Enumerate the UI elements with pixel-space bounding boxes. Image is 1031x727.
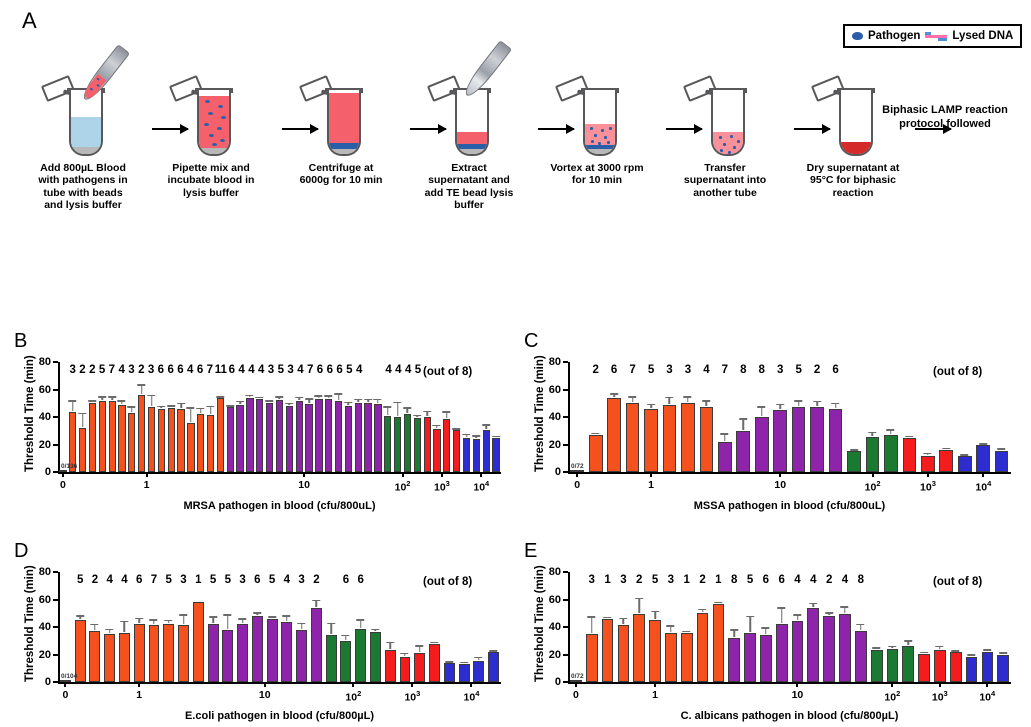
error-bar [706, 400, 708, 406]
replicate-count [486, 574, 501, 586]
error-bar [476, 435, 478, 438]
bar-slot [294, 362, 304, 472]
plot-area-d: 02040608001101021031040/104 [58, 572, 501, 682]
bar-slot [863, 362, 881, 472]
workflow-step-3: Centrifuge at 6000g for 10 min [293, 48, 389, 187]
bar [847, 451, 861, 472]
replicate-count: 5 [220, 574, 235, 586]
bar [89, 631, 100, 682]
error-bar [289, 403, 291, 405]
error-bar [249, 395, 251, 398]
bar [128, 413, 135, 472]
error-bar [109, 629, 111, 633]
error-bar [220, 396, 222, 397]
replicate-count: 5 [413, 364, 423, 376]
replicate-count: 6 [227, 364, 237, 376]
bar [728, 638, 740, 682]
bar-slot [132, 572, 147, 682]
bar-slot [393, 362, 403, 472]
replicate-count: 6 [325, 364, 335, 376]
error-bar [397, 402, 399, 416]
error-bar [298, 397, 300, 400]
bar [345, 406, 352, 472]
bar [807, 608, 819, 682]
bar [384, 416, 391, 472]
workflow-step-5-caption: Vortex at 3000 rpm for 10 min [549, 162, 645, 187]
bar-slot [647, 572, 663, 682]
error-bar [743, 418, 745, 430]
replicate-count: 6 [758, 574, 774, 586]
bar-slot [225, 362, 235, 472]
error-bar [813, 603, 815, 607]
error-bar [242, 618, 244, 622]
error-bar [632, 396, 634, 402]
bar [217, 398, 224, 472]
bar [866, 437, 880, 472]
bar-slot [452, 362, 462, 472]
replicate-count [368, 574, 383, 586]
bar [158, 409, 165, 472]
y-tick-label: 20 [549, 649, 561, 661]
y-tick-label: 60 [549, 384, 561, 396]
bar-slot [117, 362, 127, 472]
bar-slot [679, 362, 697, 472]
error-bar [239, 401, 241, 404]
error-bar [404, 653, 406, 656]
workflow-step-1: Add 800µL Blood with pathogens in tube w… [35, 48, 131, 212]
bar-slot [948, 572, 964, 682]
error-bar [446, 411, 448, 418]
bar-slot [900, 362, 918, 472]
replicate-count: 6 [195, 364, 205, 376]
error-bar [407, 407, 409, 413]
bar-slot [383, 572, 398, 682]
error-bar [131, 406, 133, 412]
supernatant-layer [329, 93, 359, 143]
replicate-count [472, 364, 482, 376]
bar-slot [176, 362, 186, 472]
plot-area-c: 02040608001101021031040/72 [568, 362, 1011, 472]
bar-slot [916, 572, 932, 682]
replicate-count: 4 [117, 364, 127, 376]
tube-body [455, 90, 489, 156]
error-bar [718, 602, 720, 603]
bar-slot [992, 362, 1010, 472]
error-bar [749, 616, 751, 632]
x-tick-label: 102 [884, 689, 900, 704]
bar [921, 456, 935, 472]
x-tick [411, 682, 413, 687]
bar-slot [471, 362, 481, 472]
bar [256, 399, 263, 472]
workflow-step-7-caption: Dry supernatant at 95°C for biphasic rea… [805, 162, 901, 199]
bar [138, 395, 145, 472]
replicate-count: 6 [774, 574, 790, 586]
bar-slot [117, 572, 132, 682]
x-tick-label: 104 [975, 479, 991, 494]
bar-series-d [58, 572, 501, 682]
x-tick [264, 682, 266, 687]
replicate-count: 5 [344, 364, 354, 376]
tube-body [327, 90, 361, 156]
bar-slot [206, 572, 221, 682]
x-axis [568, 682, 1011, 684]
replicate-count: 3 [286, 364, 296, 376]
replicate-count [992, 364, 1010, 376]
y-tick-label: 80 [39, 566, 51, 578]
bar [459, 664, 470, 682]
bar-slot [642, 362, 660, 472]
bar [823, 616, 835, 682]
workflow-step-4-caption: Extract supernatant and add TE bead lysi… [421, 162, 517, 212]
bar [340, 641, 351, 682]
bar-slot [324, 572, 339, 682]
error-bar [816, 401, 818, 407]
bar [976, 445, 990, 472]
error-bar [230, 405, 232, 406]
error-bar [387, 406, 389, 414]
error-bar [456, 428, 458, 429]
plot-area-b: 02040608001101021031040/136 [58, 362, 501, 472]
bar-slot [726, 572, 742, 682]
bar [429, 644, 440, 682]
bar [618, 625, 630, 682]
bar-slot [631, 572, 647, 682]
replicate-count: 8 [734, 364, 752, 376]
x-tick [891, 682, 893, 687]
replicate-count [995, 574, 1011, 586]
error-bar [183, 614, 185, 624]
x-tick [779, 472, 781, 477]
replicate-count: 3 [294, 574, 309, 586]
bar-slot [216, 362, 226, 472]
error-bar [779, 404, 781, 410]
zero-count-annotation: 0/136 [61, 463, 77, 470]
bar-slot [334, 362, 344, 472]
bar [492, 438, 499, 472]
bar-slot [368, 572, 383, 682]
replicate-count: 7 [205, 364, 215, 376]
zero-count-annotation: 0/104 [61, 673, 77, 680]
error-bar [982, 443, 984, 444]
bar-slot [660, 362, 678, 472]
bar-series-e [568, 572, 1011, 682]
bar-slot [695, 572, 711, 682]
bar [335, 401, 342, 473]
replicate-count: 2 [88, 574, 103, 586]
bar [918, 654, 930, 682]
panel-a-workflow: A Pathogen Lysed DNA Add 800µL Blood wit… [0, 0, 1031, 300]
bar-slot [398, 572, 413, 682]
error-bar [939, 646, 941, 649]
zero-count-annotation: 0/72 [571, 673, 584, 680]
panel-letter-c: C [524, 330, 538, 353]
bar [414, 653, 425, 682]
workflow-step-3-caption: Centrifuge at 6000g for 10 min [293, 162, 389, 187]
bar [222, 630, 233, 682]
bar-slot [758, 572, 774, 682]
bar [267, 619, 278, 682]
out-of-label-c: (out of 8) [933, 366, 982, 378]
bar-slot [275, 362, 285, 472]
error-bar [853, 449, 855, 450]
blood-lysis-layer [199, 96, 229, 148]
bar [773, 410, 787, 472]
bar-slot [186, 362, 196, 472]
bar-slot [353, 572, 368, 682]
bar [644, 409, 658, 472]
replicate-count: 4 [697, 364, 715, 376]
y-tick-label: 80 [39, 356, 51, 368]
x-tick-label: 102 [865, 479, 881, 494]
error-bar [687, 396, 689, 402]
error-bar [781, 607, 783, 622]
x-tick-label: 104 [979, 689, 995, 704]
bar [168, 408, 175, 472]
y-tick-label: 20 [39, 439, 51, 451]
replicate-count: 3 [584, 574, 600, 586]
x-tick-label: 0 [60, 479, 66, 491]
error-bar [345, 635, 347, 641]
bar [163, 624, 174, 682]
bar [385, 650, 396, 682]
bar-slot [265, 572, 280, 682]
replicate-count [58, 574, 73, 586]
error-bar [92, 400, 94, 402]
x-tick [303, 472, 305, 477]
bar [473, 661, 484, 682]
bar-slot [697, 362, 715, 472]
error-bar [623, 618, 625, 624]
error-bar [111, 396, 113, 400]
x-tick [64, 682, 66, 687]
error-bar [82, 413, 84, 427]
replicate-count: 1 [679, 574, 695, 586]
replicate-count [900, 364, 918, 376]
error-bar [478, 657, 480, 660]
error-bar [170, 405, 172, 407]
replicate-count [491, 364, 501, 376]
replicate-count: 3 [663, 574, 679, 586]
replicate-count: 8 [853, 574, 869, 586]
bar [839, 614, 851, 682]
replicate-count: 3 [266, 364, 276, 376]
bar [997, 655, 1009, 682]
replicate-count: 4 [185, 364, 195, 376]
error-bar [1001, 448, 1003, 449]
bar [404, 414, 411, 472]
replicate-count: 2 [631, 574, 647, 586]
tube-body [197, 90, 231, 156]
bar-slot [481, 362, 491, 472]
error-bar [797, 614, 799, 620]
error-bar [318, 395, 320, 398]
bar [207, 415, 214, 472]
bar-slot [600, 572, 616, 682]
zero-count-annotation: 0/72 [571, 463, 584, 470]
bar-slot [412, 572, 427, 682]
replicate-count: 2 [821, 574, 837, 586]
bar-slot [995, 572, 1011, 682]
tube-graphic-5 [549, 48, 645, 158]
bar-slot [265, 362, 275, 472]
bar [197, 414, 204, 472]
workflow-step-6-caption: Transfer supernatant into another tube [677, 162, 773, 199]
bar [665, 633, 677, 683]
x-tick-label: 1 [648, 479, 654, 491]
x-tick-label: 0 [574, 479, 580, 491]
replicate-count: 2 [87, 364, 97, 376]
x-tick [441, 472, 443, 477]
tube-graphic-4 [421, 48, 517, 158]
error-bar [892, 646, 894, 648]
x-axis [58, 472, 501, 474]
error-bar [733, 629, 735, 637]
bar-slot [427, 572, 442, 682]
bar-slot [679, 572, 695, 682]
bar [119, 633, 130, 682]
y-tick-label: 40 [39, 621, 51, 633]
bar-slot [771, 362, 789, 472]
replicate-count: 4 [247, 364, 257, 376]
bar [934, 650, 946, 682]
bar [792, 407, 806, 472]
x-tick [654, 682, 656, 687]
x-tick-label: 10 [792, 689, 804, 701]
replicate-count: 5 [789, 364, 807, 376]
bar [325, 399, 332, 472]
tube-graphic-7 [805, 48, 901, 158]
error-bar [761, 406, 763, 416]
bar [681, 403, 695, 472]
error-bar [987, 649, 989, 650]
panel-letter-d: D [14, 540, 28, 563]
replicate-count: 3 [68, 364, 78, 376]
bar [424, 417, 431, 472]
replicate-count: 4 [384, 364, 394, 376]
bar [829, 409, 843, 472]
lysed-dna-layer [585, 124, 615, 145]
panel-letter-a: A [22, 8, 37, 34]
error-bar [419, 645, 421, 652]
bar-slot [339, 572, 354, 682]
x-tick [939, 682, 941, 687]
error-bar [798, 400, 800, 406]
error-bar [257, 612, 259, 615]
bar [246, 398, 253, 472]
bar [713, 604, 725, 682]
error-bar [330, 623, 332, 634]
error-bar [650, 404, 652, 408]
replicate-count: 7 [147, 574, 162, 586]
x-tick [982, 472, 984, 477]
replicate-count: 3 [771, 364, 789, 376]
bar-slot [568, 362, 586, 472]
bar [355, 629, 366, 682]
replicate-count: 7 [107, 364, 117, 376]
replicate-count: 8 [726, 574, 742, 586]
lysis-buffer-layer [71, 117, 101, 147]
error-bar [908, 640, 910, 644]
x-tick [576, 472, 578, 477]
bar-slot [980, 572, 996, 682]
error-bar [923, 652, 925, 653]
error-bar [426, 411, 428, 417]
bar-slot [88, 572, 103, 682]
y-tick-label: 20 [39, 649, 51, 661]
replicate-count: 3 [146, 364, 156, 376]
bar-slot [73, 572, 88, 682]
error-bar [686, 631, 688, 632]
bar-slot [491, 362, 501, 472]
bar [463, 438, 470, 472]
replicate-count: 6 [166, 364, 176, 376]
bar-slot [127, 362, 137, 472]
bar-slot [774, 572, 790, 682]
y-tick-label: 80 [549, 356, 561, 368]
error-bar [436, 425, 438, 428]
bar-slot [68, 362, 78, 472]
bar-slot [314, 362, 324, 472]
bar-slot [845, 362, 863, 472]
replicate-count: 6 [335, 364, 345, 376]
bar-slot [937, 362, 955, 472]
bar-slot [324, 362, 334, 472]
error-bar [301, 623, 303, 630]
error-bar [348, 402, 350, 405]
error-bar [669, 397, 671, 404]
x-tick-label: 103 [434, 479, 450, 494]
replicate-count [568, 364, 586, 376]
error-bar [94, 624, 96, 630]
replicate-count: 5 [73, 574, 88, 586]
bar [236, 405, 243, 472]
error-bar [927, 453, 929, 455]
error-bar [971, 654, 973, 655]
bar [810, 407, 824, 472]
bar-slot [304, 362, 314, 472]
workflow-step-5: Vortex at 3000 rpm for 10 min [549, 48, 645, 187]
bar-slot [486, 572, 501, 682]
out-of-label-d: (out of 8) [423, 576, 472, 588]
x-tick-label: 0 [573, 689, 579, 701]
replicate-count: 4 [296, 364, 306, 376]
x-axis [568, 472, 1011, 474]
bar-slot [734, 362, 752, 472]
replicate-count [471, 574, 486, 586]
bar [276, 400, 283, 472]
replicate-count: 4 [805, 574, 821, 586]
bar [755, 417, 769, 472]
bar [187, 423, 194, 472]
bar [626, 403, 640, 472]
tube-graphic-3 [293, 48, 389, 158]
y-tick-label: 40 [549, 411, 561, 423]
replicate-count: 4 [790, 574, 806, 586]
replicate-count: 5 [742, 574, 758, 586]
bar [887, 649, 899, 682]
plot-area-e: 02040608001101021031040/72 [568, 572, 1011, 682]
bar [663, 405, 677, 472]
error-bar [654, 611, 656, 619]
x-tick-label: 10 [298, 479, 310, 491]
bar [792, 621, 804, 682]
bar [697, 613, 709, 682]
replicate-count [863, 364, 881, 376]
bar [266, 403, 273, 472]
bar [433, 429, 440, 472]
x-tick-label: 1 [144, 479, 150, 491]
